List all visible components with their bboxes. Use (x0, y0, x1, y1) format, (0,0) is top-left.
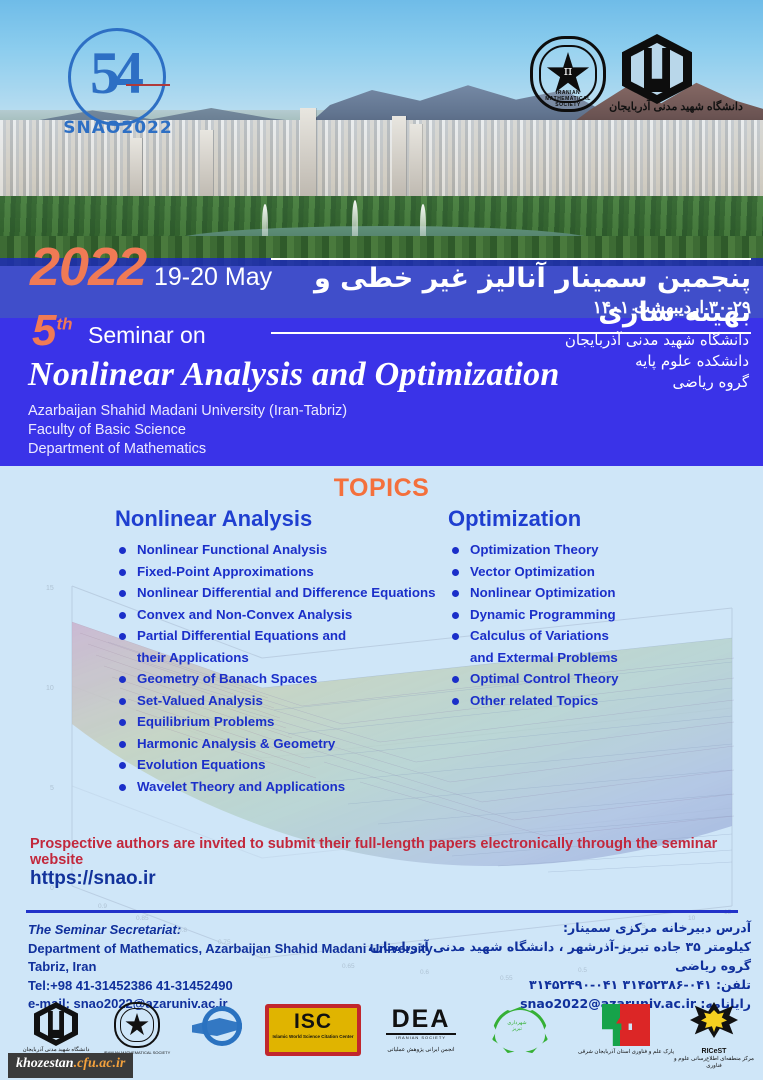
conference-poster: 54 SNAO2022 π IRANIAN MATHEMATICAL SOCIE… (0, 0, 763, 1080)
list-item: Partial Differential Equations and (115, 625, 445, 647)
logo-iran-research (182, 1004, 252, 1049)
arrow-logo-icon (600, 1004, 652, 1048)
bullet-icon (452, 612, 459, 619)
affiliation-farsi-line-2: دانشکده علوم پایه (449, 351, 749, 372)
snao-monogram: 54 (68, 30, 160, 118)
bullet-icon (452, 590, 459, 597)
list-item-label: Dynamic Programming (470, 607, 616, 622)
list-item-continuation: and Extermal Problems (448, 647, 748, 669)
bullet-icon (119, 590, 126, 597)
snao-wordmark: SNAO2022 (58, 118, 178, 138)
ims-caption: IRANIAN MATHEMATICAL SOCIETY (534, 90, 602, 108)
svg-text:0.9: 0.9 (98, 903, 107, 910)
list-item-label: and Extermal Problems (470, 650, 618, 665)
list-item-label: Optimal Control Theory (470, 671, 619, 686)
affiliation-line-3: Department of Mathematics (28, 440, 347, 459)
list-item-label: Fixed-Point Approximations (137, 564, 314, 579)
list-item: Calculus of Variations (448, 625, 748, 647)
site-watermark: khozestan.cfu.ac.ir (8, 1053, 133, 1078)
bullet-icon (119, 719, 126, 726)
list-item: Nonlinear Optimization (448, 582, 748, 604)
list-item-label: Other related Topics (470, 693, 598, 708)
bullet-icon (119, 612, 126, 619)
bullet-icon (119, 547, 126, 554)
dea-icon: DEA IRANIAN SOCIETY (384, 1006, 458, 1046)
ricest-label: RICeST (672, 1048, 756, 1055)
bullet-icon (452, 633, 459, 640)
dates-english: 19-20 May (154, 263, 272, 292)
asmu-logo-caption: دانشگاه شهید مدنی آذربایجان (596, 100, 756, 114)
list-item-label: Vector Optimization (470, 564, 595, 579)
list-item-label: Nonlinear Functional Analysis (137, 542, 327, 557)
affiliation-line-1: Azarbaijan Shahid Madani University (Ira… (28, 402, 347, 421)
seminar-website-link[interactable]: https://snao.ir (30, 868, 156, 890)
bullet-icon (119, 633, 126, 640)
bullet-icon (119, 762, 126, 769)
svg-text:5: 5 (50, 785, 54, 792)
bullet-icon (119, 569, 126, 576)
topics-column-optimization: Optimization Optimization Theory Vector … (448, 506, 748, 711)
list-item: Geometry of Banach Spaces (115, 668, 445, 690)
list-item-label: Optimization Theory (470, 542, 599, 557)
ordinal-digit: 5 (32, 306, 56, 355)
list-item: Vector Optimization (448, 561, 748, 583)
logo-caption: پارک علم و فناوری استان آذربایجان شرقی (576, 1049, 676, 1056)
logo-ricest: RICeST مرکز منطقه‌ای اطلاع‌رسانی علوم و … (672, 1002, 756, 1070)
affiliation-farsi-line-3: گروه ریاضی (449, 372, 749, 393)
list-item: Dynamic Programming (448, 604, 748, 626)
tabriz-cityscape-photo: 54 SNAO2022 π IRANIAN MATHEMATICAL SOCIE… (0, 0, 763, 266)
affiliation-block-farsi: دانشگاه شهید مدنی آذربایجان دانشکده علوم… (449, 330, 749, 393)
dea-subtitle: IRANIAN SOCIETY (384, 1035, 458, 1040)
list-item-label: Geometry of Banach Spaces (137, 671, 317, 686)
list-item-label: Calculus of Variations (470, 628, 609, 643)
list-item-label: Nonlinear Optimization (470, 585, 616, 600)
column-heading-nonlinear-analysis: Nonlinear Analysis (115, 506, 445, 532)
snao-red-rule (126, 84, 170, 86)
year-label: 2022 (30, 240, 146, 294)
logo-isc: ISC Islamic World Science Citation Cente… (265, 1004, 357, 1056)
list-item: Harmonic Analysis & Geometry (115, 733, 445, 755)
bullet-icon (119, 676, 126, 683)
list-item: Convex and Non-Convex Analysis (115, 604, 445, 626)
list-item-label: Evolution Equations (137, 757, 266, 772)
list-item: Nonlinear Functional Analysis (115, 539, 445, 561)
watermark-white: khozestan (16, 1056, 74, 1071)
tower-2 (392, 116, 406, 208)
bullet-icon (452, 698, 459, 705)
dea-label: DEA (384, 1006, 458, 1032)
logo-caption: مرکز منطقه‌ای اطلاع‌رسانی علوم و فناوری (672, 1056, 756, 1070)
logo-dea: DEA IRANIAN SOCIETY انجمن ایرانی پژوهش ع… (378, 1006, 464, 1054)
list-item-label: Nonlinear Differential and Difference Eq… (137, 585, 436, 600)
list-item: Optimization Theory (448, 539, 748, 561)
swirl-icon (192, 1004, 242, 1048)
ordinal-number: 5th (32, 306, 73, 356)
dates-farsi: ۳۰-۲۹ اردیبهشت ۱۴۰۱ (271, 298, 751, 318)
logo-caption: انجمن ایرانی پژوهش عملیاتی (378, 1047, 464, 1054)
svg-text:15: 15 (46, 585, 54, 592)
list-item: Evolution Equations (115, 754, 445, 776)
logo-tabriz-municipality: شهرداری تبریز (482, 1004, 552, 1052)
logo-ims: IRANIAN MATHEMATICAL SOCIETY (100, 1002, 174, 1056)
secretariat-farsi-address: کیلومتر ۳۵ جاده تبریز-آذرشهر ، دانشگاه ش… (351, 937, 751, 975)
affiliation-farsi-line-1: دانشگاه شهید مدنی آذربایجان (449, 330, 749, 351)
optimization-topic-list: Optimization Theory Vector Optimization … (448, 539, 748, 711)
title-farsi: پنجمین سمینار آنالیز غیر خطی و بهینه ساز… (271, 258, 751, 334)
body-area: 15 10 5 0 0.90.85 0.80.75 0.70.65 0.60.5… (0, 466, 763, 1080)
iranian-mathematical-society-logo: π IRANIAN MATHEMATICAL SOCIETY (530, 36, 606, 112)
bullet-icon (452, 569, 459, 576)
list-item-label: Wavelet Theory and Applications (137, 779, 345, 794)
list-item-label: Harmonic Analysis & Geometry (137, 736, 335, 751)
divider (26, 910, 738, 913)
topics-heading: TOPICS (0, 474, 763, 503)
tower-1 (300, 108, 316, 208)
list-item: Wavelet Theory and Applications (115, 776, 445, 798)
list-item-continuation: their Applications (115, 647, 445, 669)
list-item: Equilibrium Problems (115, 711, 445, 733)
secretariat-farsi: آدرس دبیرخانه مرکزی سمینار: کیلومتر ۳۵ ج… (351, 918, 751, 1013)
bullet-icon (119, 741, 126, 748)
flower-label: شهرداری تبریز (503, 1020, 531, 1032)
submission-callout: Prospective authors are invited to submi… (30, 836, 763, 868)
bullet-icon (452, 676, 459, 683)
hexagon-logo-icon (34, 1002, 78, 1046)
list-item: Other related Topics (448, 690, 748, 712)
list-item-label: Set-Valued Analysis (137, 693, 263, 708)
watermark-orange: .cfu.ac.ir (74, 1056, 126, 1071)
column-heading-optimization: Optimization (448, 506, 748, 532)
nonlinear-analysis-topic-list: Nonlinear Functional Analysis Fixed-Poin… (115, 539, 445, 797)
secretariat-farsi-heading: آدرس دبیرخانه مرکزی سمینار: (351, 918, 751, 937)
flower-icon: شهرداری تبریز (489, 1004, 545, 1052)
logo-science-park: پارک علم و فناوری استان آذربایجان شرقی (576, 1004, 676, 1056)
secretariat-farsi-phone: تلفن: ۰۴۱-۳۱۴۵۲۳۸۶ ۰۴۱-۳۱۴۵۲۴۹۰ (351, 975, 751, 994)
bullet-icon (119, 784, 126, 791)
list-item-label: Equilibrium Problems (137, 714, 274, 729)
affiliation-block: Azarbaijan Shahid Madani University (Ira… (28, 402, 347, 459)
asmu-logo (622, 34, 692, 104)
ricest-star-icon (688, 1002, 740, 1048)
snao-logo: 54 SNAO2022 (58, 28, 178, 140)
isc-label: ISC (269, 1010, 357, 1034)
svg-text:10: 10 (46, 685, 54, 692)
list-item: Nonlinear Differential and Difference Eq… (115, 582, 445, 604)
mathematical-society-icon (114, 1002, 160, 1048)
ordinal-suffix: th (56, 314, 72, 333)
affiliation-line-2: Faculty of Basic Science (28, 421, 347, 440)
list-item: Optimal Control Theory (448, 668, 748, 690)
isc-badge-icon: ISC Islamic World Science Citation Cente… (265, 1004, 361, 1056)
list-item-label: Convex and Non-Convex Analysis (137, 607, 352, 622)
logo-asmu: دانشگاه شهید مدنی آذربایجان (16, 1002, 96, 1054)
bullet-icon (452, 547, 459, 554)
list-item-label: their Applications (137, 650, 249, 665)
seminar-on-label: Seminar on (88, 322, 206, 349)
pi-symbol-icon: π (560, 64, 576, 79)
topics-column-nonlinear-analysis: Nonlinear Analysis Nonlinear Functional … (115, 506, 445, 797)
list-item: Set-Valued Analysis (115, 690, 445, 712)
bullet-icon (119, 698, 126, 705)
isc-subtitle: Islamic World Science Citation Center (269, 1034, 357, 1039)
list-item-label: Partial Differential Equations and (137, 628, 346, 643)
list-item: Fixed-Point Approximations (115, 561, 445, 583)
